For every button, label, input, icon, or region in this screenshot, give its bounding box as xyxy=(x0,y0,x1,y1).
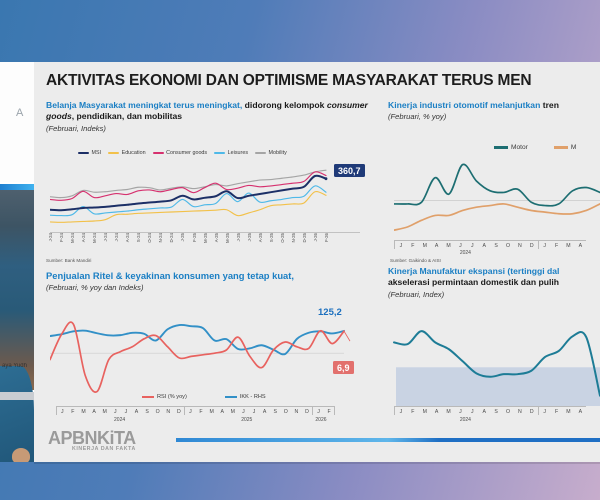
manufaktur-month-tick: M xyxy=(419,407,431,415)
ritel-month-tick: J xyxy=(185,407,196,415)
msi-xaxis-tick: J-24 xyxy=(48,233,53,242)
ritel-month-tick: M xyxy=(206,407,217,415)
legend-item-mobility: Mobility xyxy=(255,150,287,156)
ritel-month-tick: M xyxy=(78,407,89,415)
manufaktur-month-tick: O xyxy=(502,407,514,415)
heading-black-text-2: , pendidikan, dan mobilitas xyxy=(72,111,182,121)
otomotif-chart-svg xyxy=(394,158,600,240)
manufaktur-month-tick: M xyxy=(562,407,574,415)
otomotif-chart-legend: Motor M xyxy=(494,144,576,151)
msi-xaxis-tick: O-24 xyxy=(147,233,152,243)
msi-xaxis-tick: D-25 xyxy=(302,233,307,243)
ritel-year-group: JFMAMJJASOND xyxy=(184,407,312,415)
msi-callout-value: 360,7 xyxy=(334,164,365,177)
msi-xaxis-tick: S-24 xyxy=(136,233,141,242)
ritel-month-tick: O xyxy=(152,407,163,415)
manufaktur-month-tick: D xyxy=(526,407,538,415)
manufaktur-month-tick: J xyxy=(539,407,551,415)
msi-xaxis-tick: A-24 xyxy=(125,233,130,242)
msi-xaxis-tick: A-25 xyxy=(258,233,263,242)
panel-top-right-heading: Kinerja industri otomotif melanjutkan tr… xyxy=(388,100,600,111)
msi-xaxis-tick: M-25 xyxy=(203,233,208,243)
otomotif-month-tick: F xyxy=(407,241,419,249)
legend-label-consumer-goods: Consumer goods xyxy=(166,150,207,156)
msi-xaxis-tick: M-24 xyxy=(92,233,97,243)
ritel-month-tick: A xyxy=(89,407,100,415)
panel-bottom-left-subtitle: (Februari, % yoy dan Indeks) xyxy=(46,283,378,292)
heading-blue-text: Penjualan Ritel & keyakinan konsumen yan… xyxy=(46,270,294,281)
msi-xaxis-tick: M-25 xyxy=(225,233,230,243)
slide-canvas: AKTIVITAS EKONOMI DAN OPTIMISME MASYARAK… xyxy=(34,62,600,462)
otomotif-year-group: JFMAMJJASOND xyxy=(394,241,538,249)
legend-label-education: Education xyxy=(122,150,146,156)
legend-swatch-mobil xyxy=(554,146,568,148)
otomotif-month-tick: O xyxy=(502,241,514,249)
msi-xaxis-tick: J-25 xyxy=(247,233,252,242)
ritel-year-group: JF xyxy=(312,407,334,415)
legend-label-rsi: RSI (% yoy) xyxy=(157,394,187,400)
otomotif-month-tick: J xyxy=(539,241,551,249)
manufaktur-month-tick: J xyxy=(466,407,478,415)
manufaktur-month-tick: A xyxy=(478,407,490,415)
video-tile-bottom-strip xyxy=(0,392,34,400)
avatar-letter: A xyxy=(16,107,23,119)
ritel-chart-year-row: 202420252026 xyxy=(56,417,332,423)
otomotif-month-tick: D xyxy=(526,241,538,249)
msi-xaxis-tick: F-25 xyxy=(192,233,197,242)
manufaktur-chart-year-row: 2024 xyxy=(394,417,584,423)
ritel-year-group: JFMAMJJASOND xyxy=(56,407,184,415)
msi-chart-plot xyxy=(50,158,360,230)
manufaktur-month-tick: F xyxy=(407,407,419,415)
ritel-month-tick: N xyxy=(163,407,174,415)
manufaktur-month-tick: A xyxy=(431,407,443,415)
otomotif-year-group: JFMA xyxy=(538,241,587,249)
manufaktur-month-tick: J xyxy=(454,407,466,415)
otomotif-year-label: 2024 xyxy=(394,250,537,256)
legend-label-msi: MSI xyxy=(92,150,102,156)
legend-label-leisures: Leisures xyxy=(228,150,248,156)
heading-black-text-1: didorong kelompok xyxy=(242,100,327,110)
ritel-year-label: 2026 xyxy=(310,417,331,423)
legend-item-rsi: RSI (% yoy) xyxy=(142,394,187,400)
legend-swatch-motor xyxy=(494,146,508,148)
manufaktur-month-tick: F xyxy=(551,407,563,415)
ikk-highlight-value: 125,2 xyxy=(318,307,342,318)
panel-top-left-subtitle: (Februari, Indeks) xyxy=(46,124,378,133)
legend-swatch-rsi xyxy=(142,396,154,398)
otomotif-month-tick: M xyxy=(443,241,455,249)
participant-video-feed xyxy=(0,190,34,390)
msi-chart-legend: MSI Education Consumer goods Leisures Mo… xyxy=(78,150,287,156)
otomotif-month-tick: M xyxy=(562,241,574,249)
otomotif-month-tick: J xyxy=(454,241,466,249)
ritel-month-tick: J xyxy=(110,407,121,415)
ritel-month-tick: J xyxy=(238,407,249,415)
msi-xaxis-tick: D-24 xyxy=(169,233,174,243)
otomotif-chart-source: Sumber: Gaikindo & AISI xyxy=(390,258,441,263)
ritel-month-tick: J xyxy=(121,407,132,415)
ritel-month-tick: F xyxy=(196,407,207,415)
otomotif-year-label xyxy=(537,250,585,256)
manufaktur-chart-plot xyxy=(390,320,600,406)
otomotif-month-tick: N xyxy=(514,241,526,249)
manufaktur-year-group: JFMA xyxy=(538,407,587,415)
panel-top-left-heading: Belanja Masyarakat meningkat terus menin… xyxy=(46,100,378,123)
otomotif-month-tick: A xyxy=(431,241,443,249)
otomotif-month-tick: J xyxy=(466,241,478,249)
ritel-axis-end xyxy=(334,407,335,415)
msi-xaxis-tick: A-25 xyxy=(214,233,219,242)
manufaktur-year-label: 2024 xyxy=(394,417,537,423)
otomotif-month-tick: A xyxy=(574,241,586,249)
legend-item-education: Education xyxy=(108,150,145,156)
ritel-month-tick: M xyxy=(99,407,110,415)
legend-swatch-consumer-goods xyxy=(153,152,164,154)
msi-xaxis-tick: M-24 xyxy=(70,233,75,243)
ritel-chart-svg xyxy=(50,318,362,398)
slide-bottom-shadow xyxy=(34,462,600,464)
legend-swatch-education xyxy=(108,152,119,154)
heading-black-text: tren xyxy=(543,100,559,110)
manufaktur-year-label xyxy=(537,417,585,423)
participant-hand xyxy=(12,448,30,462)
ritel-month-tick: S xyxy=(270,407,281,415)
otomotif-month-tick: M xyxy=(419,241,431,249)
msi-chart-xaxis: J-24F-24M-24A-24M-24J-24J-24A-24S-24O-24… xyxy=(50,232,360,256)
manufaktur-month-tick: A xyxy=(574,407,586,415)
legend-item-motor: Motor xyxy=(494,144,528,151)
msi-xaxis-tick: S-25 xyxy=(269,233,274,242)
legend-label-mobility: Mobility xyxy=(269,150,287,156)
manufaktur-month-tick: M xyxy=(443,407,455,415)
manufaktur-month-tick: N xyxy=(514,407,526,415)
msi-xaxis-tick: J-24 xyxy=(103,233,108,242)
msi-xaxis-tick: J-25 xyxy=(180,233,185,242)
ritel-year-label: 2024 xyxy=(56,417,183,423)
panel-bottom-right-subtitle: (Februari, Index) xyxy=(388,290,600,299)
ritel-month-tick: S xyxy=(142,407,153,415)
msi-chart-svg xyxy=(50,158,360,230)
ritel-month-tick: A xyxy=(131,407,142,415)
ritel-chart-legend: RSI (% yoy) IKK - RHS xyxy=(142,394,266,400)
ritel-chart-xaxis: JFMAMJJASONDJFMAMJJASONDJF xyxy=(56,406,335,415)
ritel-month-tick: A xyxy=(217,407,228,415)
manufaktur-chart-xaxis: JFMAMJJASONDJFMA xyxy=(394,406,586,415)
msi-xaxis-tick: J-26 xyxy=(313,233,318,242)
participant-name-label: aya Yudh xyxy=(2,363,27,369)
ritel-month-tick: J xyxy=(57,407,68,415)
ritel-month-tick: F xyxy=(324,407,335,415)
manufaktur-chart-svg xyxy=(390,320,600,406)
ritel-month-tick: D xyxy=(174,407,185,415)
msi-xaxis-tick: N-24 xyxy=(158,233,163,243)
msi-xaxis-tick: N-25 xyxy=(291,233,296,243)
legend-item-msi: MSI xyxy=(78,150,101,156)
ritel-month-tick: D xyxy=(302,407,313,415)
slide-title: AKTIVITAS EKONOMI DAN OPTIMISME MASYARAK… xyxy=(46,72,531,90)
legend-swatch-msi xyxy=(78,152,89,155)
ritel-month-tick: F xyxy=(68,407,79,415)
manufaktur-year-group: JFMAMJJASOND xyxy=(394,407,538,415)
panel-top-left: Belanja Masyarakat meningkat terus menin… xyxy=(46,100,378,133)
panel-bottom-right-heading: Kinerja Manufaktur ekspansi (tertinggi d… xyxy=(388,266,600,289)
heading-blue-text: Kinerja Manufaktur ekspansi (tertinggi d… xyxy=(388,266,559,276)
legend-label-motor: Motor xyxy=(511,144,528,151)
otomotif-chart-plot xyxy=(394,158,600,240)
ritel-chart-plot xyxy=(50,318,362,398)
ritel-month-tick: N xyxy=(291,407,302,415)
ritel-month-tick: O xyxy=(280,407,291,415)
video-participant-tile[interactable]: A aya Yudh xyxy=(0,62,34,462)
otomotif-month-tick: A xyxy=(478,241,490,249)
panel-bottom-right: Kinerja Manufaktur ekspansi (tertinggi d… xyxy=(388,266,600,299)
legend-label-ikk: IKK - RHS xyxy=(240,394,266,400)
msi-xaxis-tick: J-25 xyxy=(236,233,241,242)
msi-xaxis-tick: O-25 xyxy=(280,233,285,243)
apbn-kita-tagline: KINERJA DAN FAKTA xyxy=(72,446,136,452)
slide-footer: APBNKiTA KINERJA DAN FAKTA xyxy=(34,426,600,462)
legend-item-mobil: M xyxy=(554,144,577,151)
otomotif-chart-xaxis: JFMAMJJASONDJFMA xyxy=(394,240,586,249)
msi-chart-source: Sumber: Bank Mandiri xyxy=(46,258,91,263)
legend-item-consumer-goods: Consumer goods xyxy=(153,150,208,156)
msi-xaxis-tick: F-26 xyxy=(324,233,329,242)
video-tile-upper-blank xyxy=(0,62,34,182)
otomotif-chart-year-row: 2024 xyxy=(394,250,584,256)
legend-item-ikk: IKK - RHS xyxy=(225,394,266,400)
otomotif-month-tick: F xyxy=(551,241,563,249)
ritel-year-label: 2025 xyxy=(183,417,310,423)
ritel-month-tick: J xyxy=(313,407,324,415)
panel-top-right: Kinerja industri otomotif melanjutkan tr… xyxy=(388,100,600,121)
manufaktur-month-tick: S xyxy=(490,407,502,415)
rsi-callout-value: 6,9 xyxy=(333,361,354,374)
legend-item-leisures: Leisures xyxy=(214,150,248,156)
ritel-month-tick: J xyxy=(249,407,260,415)
footer-accent-line xyxy=(176,438,600,442)
heading-black-text: akselerasi permintaan domestik dan pulih xyxy=(388,277,559,287)
ritel-month-tick: A xyxy=(259,407,270,415)
ritel-month-tick: M xyxy=(228,407,239,415)
msi-xaxis-tick: F-24 xyxy=(59,233,64,242)
legend-swatch-leisures xyxy=(214,152,225,154)
panel-top-right-subtitle: (Februari, % yoy) xyxy=(388,112,600,121)
legend-swatch-ikk xyxy=(225,396,237,398)
heading-blue-text: Belanja Masyarakat meningkat terus menin… xyxy=(46,100,242,110)
msi-xaxis-tick: A-24 xyxy=(81,233,86,242)
panel-bottom-left-heading: Penjualan Ritel & keyakinan konsumen yan… xyxy=(46,270,378,282)
otomotif-month-tick: S xyxy=(490,241,502,249)
msi-xaxis-tick: J-24 xyxy=(114,233,119,242)
heading-blue-text: Kinerja industri otomotif melanjutkan xyxy=(388,100,543,110)
otomotif-month-tick: J xyxy=(395,241,407,249)
panel-bottom-left: Penjualan Ritel & keyakinan konsumen yan… xyxy=(46,270,378,292)
legend-label-mobil: M xyxy=(571,144,577,151)
legend-swatch-mobility xyxy=(255,152,266,154)
manufaktur-month-tick: J xyxy=(395,407,407,415)
